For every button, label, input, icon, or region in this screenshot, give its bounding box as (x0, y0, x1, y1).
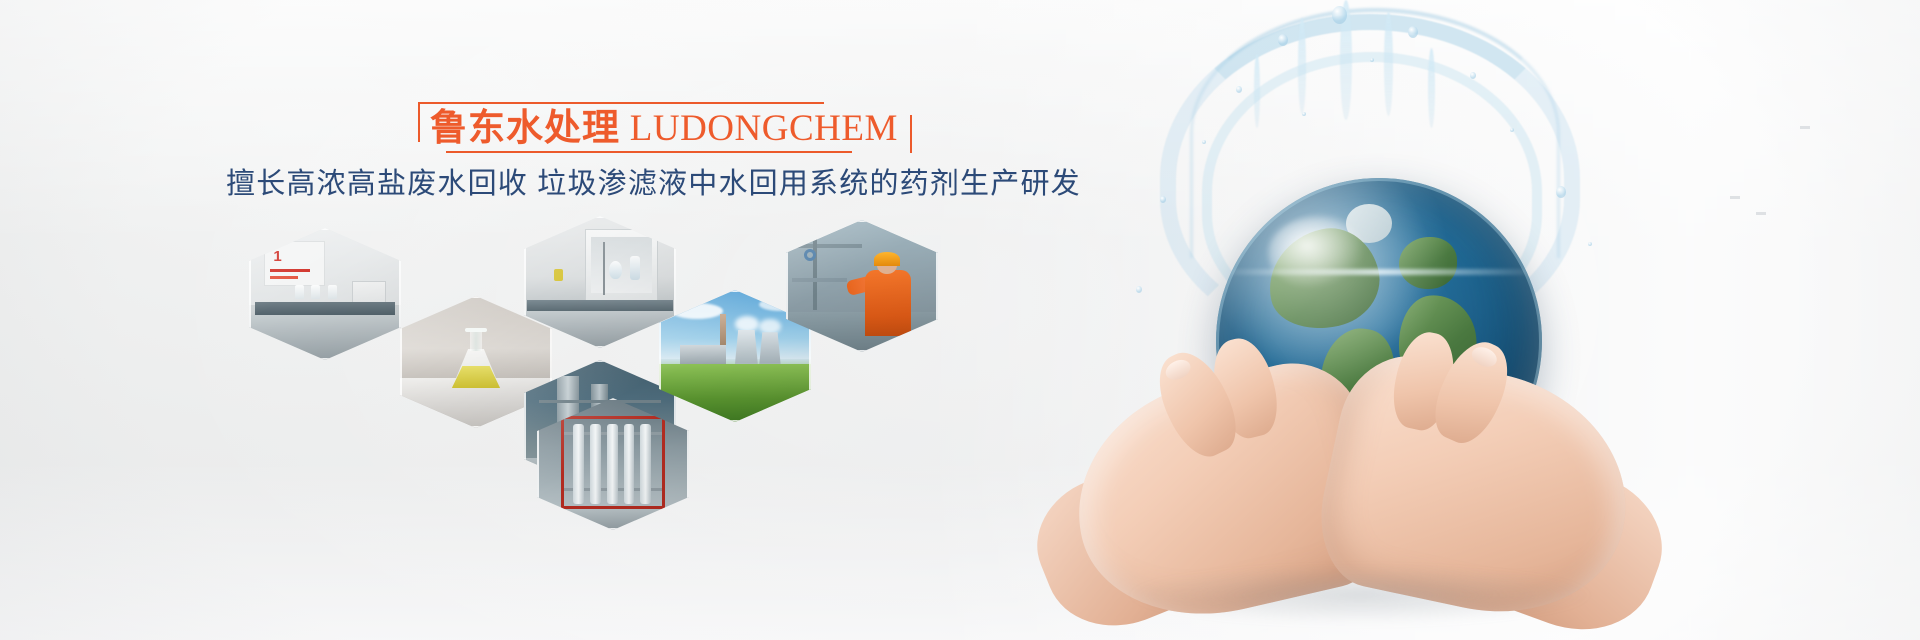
water-droplet (1588, 242, 1592, 246)
fingernail (1162, 356, 1193, 384)
water-droplet (1332, 6, 1347, 24)
hex-photo-laboratory-room[interactable]: 1 (249, 228, 401, 360)
water-droplet (1408, 26, 1418, 38)
fingernail (1469, 343, 1500, 370)
water-droplet (1302, 112, 1306, 116)
globe-specular-highlight (1268, 217, 1366, 289)
hex-white-border (249, 228, 401, 360)
hero-banner: 鲁东水处理 LUDONGCHEM 擅长高浓高盐废水回收 垃圾渗滤液中水回用系统的… (0, 0, 1920, 640)
water-droplet (1278, 34, 1288, 46)
water-droplet (1470, 72, 1476, 79)
water-droplet (1160, 196, 1166, 203)
background-fleck (1730, 196, 1740, 199)
water-jet-2 (1298, 18, 1306, 114)
hands-holding-water-globe (1040, 0, 1920, 640)
background-fleck (1756, 212, 1766, 215)
water-droplet (1510, 128, 1514, 132)
water-droplet (1236, 86, 1242, 93)
water-droplet (1136, 286, 1142, 293)
water-droplet (1370, 58, 1374, 62)
water-jet-5 (1428, 48, 1435, 128)
water-droplet (1202, 140, 1206, 144)
water-droplet (1556, 186, 1566, 198)
water-jet-3 (1384, 12, 1393, 116)
hands-ground-shadow (1130, 566, 1590, 624)
hexagon-photo-collage: 1 (0, 0, 1010, 640)
water-jet-4 (1254, 54, 1260, 128)
background-fleck (1800, 126, 1810, 129)
